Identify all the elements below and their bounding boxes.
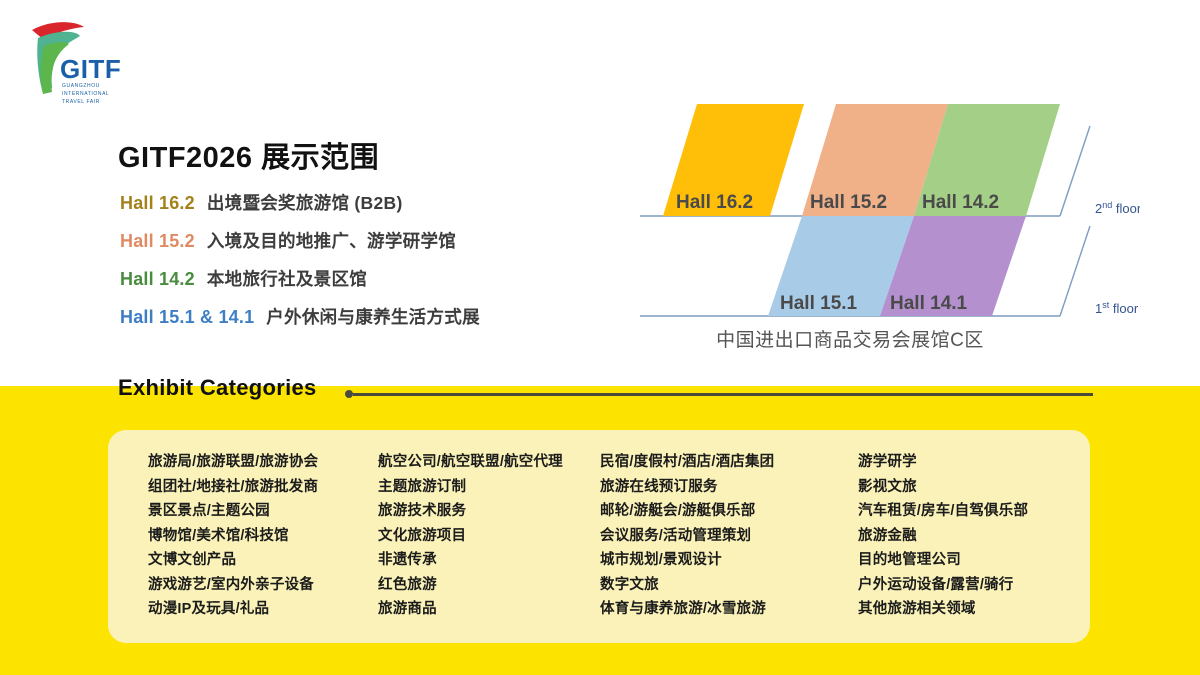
first-floor-leader [1060, 226, 1090, 316]
category-item: 旅游商品 [378, 597, 596, 622]
category-item: 目的地管理公司 [858, 548, 1090, 573]
category-item: 文化旅游项目 [378, 524, 596, 549]
hall-tag: Hall 16.2 [120, 193, 195, 214]
category-item: 非遗传承 [378, 548, 596, 573]
category-item: 邮轮/游艇会/游艇俱乐部 [600, 499, 833, 524]
category-item: 动漫IP及玩具/礼品 [148, 597, 358, 622]
category-item: 旅游金融 [858, 524, 1090, 549]
logo-sub-international: INTERNATIONAL [62, 91, 109, 97]
category-item: 汽车租赁/房车/自驾俱乐部 [858, 499, 1090, 524]
heading-rule-dot [345, 390, 353, 398]
heading-rule [345, 390, 1093, 398]
category-item: 主题旅游订制 [378, 475, 596, 500]
category-item: 游学研学 [858, 450, 1090, 475]
category-item: 城市规划/景观设计 [600, 548, 833, 573]
hall-description: 入境及目的地推广、游学研学馆 [207, 228, 456, 253]
category-item: 数字文旅 [600, 573, 833, 598]
category-item: 组团社/地接社/旅游批发商 [148, 475, 358, 500]
category-item: 户外运动设备/露营/骑行 [858, 573, 1090, 598]
hall-row: Hall 15.1 & 14.1 户外休闲与康养生活方式展 [120, 304, 680, 329]
hall-block-label-15-1: Hall 15.1 [780, 293, 858, 314]
category-item: 博物馆/美术馆/科技馆 [148, 524, 358, 549]
category-item: 体育与康养旅游/冰雪旅游 [600, 597, 833, 622]
slide-root: GITF GUANGZHOU INTERNATIONAL TRAVEL FAIR… [0, 0, 1200, 675]
first-floor-label: 1st floor [1095, 300, 1139, 316]
category-column-2: 航空公司/航空联盟/航空代理 主题旅游订制 旅游技术服务 文化旅游项目 非遗传承… [358, 450, 596, 643]
hall-floorplan-diagram: Hall 16.2 Hall 15.2 Hall 14.2 Hall 15.1 … [640, 90, 1140, 360]
category-item: 旅游局/旅游联盟/旅游协会 [148, 450, 358, 475]
first-floor-ordinal: 1 [1095, 301, 1102, 316]
category-item: 旅游在线预订服务 [600, 475, 833, 500]
second-floor-leader [1060, 126, 1090, 216]
exhibit-categories-heading: Exhibit Categories [118, 375, 317, 401]
hall-row: Hall 15.2 入境及目的地推广、游学研学馆 [120, 228, 680, 253]
category-item: 航空公司/航空联盟/航空代理 [378, 450, 596, 475]
diagram-caption: 中国进出口商品交易会展馆C区 [640, 325, 1060, 352]
hall-list: Hall 16.2 出境暨会奖旅游馆 (B2B) Hall 15.2 入境及目的… [120, 190, 680, 342]
hall-row: Hall 16.2 出境暨会奖旅游馆 (B2B) [120, 190, 680, 215]
hall-block-label-15-2: Hall 15.2 [810, 192, 887, 213]
second-floor-ordinal-suffix: nd [1102, 200, 1112, 210]
exhibit-categories-card: 旅游局/旅游联盟/旅游协会 组团社/地接社/旅游批发商 景区景点/主题公园 博物… [108, 430, 1090, 643]
category-column-1: 旅游局/旅游联盟/旅游协会 组团社/地接社/旅游批发商 景区景点/主题公园 博物… [108, 450, 358, 643]
category-item: 影视文旅 [858, 475, 1090, 500]
category-item: 景区景点/主题公园 [148, 499, 358, 524]
svg-text:2nd floor: 2nd floor [1095, 200, 1140, 216]
hall-tag: Hall 14.2 [120, 269, 195, 290]
hall-description: 出境暨会奖旅游馆 (B2B) [207, 190, 403, 215]
second-floor-text: floor [1112, 201, 1140, 216]
second-floor-ordinal: 2 [1095, 201, 1102, 216]
hall-block-label-16-2: Hall 16.2 [676, 192, 753, 213]
category-item: 红色旅游 [378, 573, 596, 598]
hall-tag: Hall 15.2 [120, 231, 195, 252]
category-item: 文博文创产品 [148, 548, 358, 573]
hall-tag: Hall 15.1 & 14.1 [120, 307, 254, 328]
category-columns: 旅游局/旅游联盟/旅游协会 组团社/地接社/旅游批发商 景区景点/主题公园 博物… [108, 430, 1090, 643]
category-item: 旅游技术服务 [378, 499, 596, 524]
hall-row: Hall 14.2 本地旅行社及景区馆 [120, 266, 680, 291]
category-column-3: 民宿/度假村/酒店/酒店集团 旅游在线预订服务 邮轮/游艇会/游艇俱乐部 会议服… [596, 450, 833, 643]
logo-sub-guangzhou: GUANGZHOU [62, 83, 100, 89]
hall-description: 本地旅行社及景区馆 [207, 266, 367, 291]
hall-block-label-14-2: Hall 14.2 [922, 192, 999, 213]
hall-block-label-14-1: Hall 14.1 [890, 293, 968, 314]
category-item: 会议服务/活动管理策划 [600, 524, 833, 549]
category-item: 民宿/度假村/酒店/酒店集团 [600, 450, 833, 475]
hall-description: 户外休闲与康养生活方式展 [266, 304, 480, 329]
svg-text:1st floor: 1st floor [1095, 300, 1139, 316]
heading-rule-line [353, 393, 1093, 396]
category-item: 其他旅游相关领域 [858, 597, 1090, 622]
second-floor-label: 2nd floor [1095, 200, 1140, 216]
category-column-4: 游学研学 影视文旅 汽车租赁/房车/自驾俱乐部 旅游金融 目的地管理公司 户外运… [833, 450, 1090, 643]
page-title: GITF2026 展示范围 [118, 134, 379, 176]
category-item: 游戏游艺/室内外亲子设备 [148, 573, 358, 598]
logo-wordmark: GITF [60, 54, 121, 84]
first-floor-text: floor [1109, 301, 1139, 316]
logo-sub-travelfair: TRAVEL FAIR [62, 99, 100, 105]
gitf-logo: GITF GUANGZHOU INTERNATIONAL TRAVEL FAIR [22, 16, 132, 108]
